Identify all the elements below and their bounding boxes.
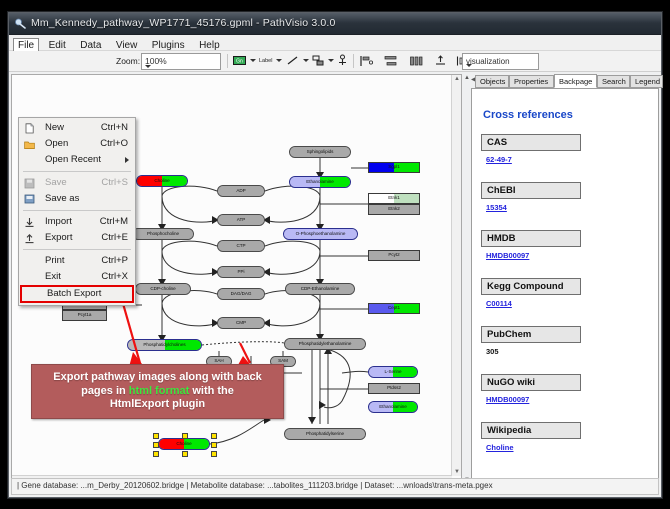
visualization-combobox[interactable]: visualization	[462, 53, 539, 70]
xref-group: WikipediaCholine	[481, 422, 581, 452]
toolbar: Zoom: 100% Gn Label	[9, 51, 661, 72]
label-button-text: Label	[259, 58, 272, 64]
file-menu-item-new[interactable]: New Ctrl+N	[19, 120, 135, 136]
tab-legend[interactable]: Legend	[630, 75, 663, 88]
file-menu-shortcut: Ctrl+N	[101, 120, 128, 136]
pathway-metabolite-o-phosphoethanolamine[interactable]: O-Phosphoethanolamine	[283, 228, 358, 240]
xref-group: NuGO wikiHMDB00097	[481, 374, 581, 404]
pathway-gene-sgpl1[interactable]: Sgpl1	[368, 162, 420, 173]
export-icon	[24, 233, 35, 244]
distribute-vertical-icon[interactable]	[384, 53, 398, 68]
window-title: Mm_Kennedy_pathway_WP1771_45176.gpml - P…	[31, 17, 335, 29]
node-label: CDP-Ethanolamine	[301, 287, 340, 292]
file-menu-label: Exit	[45, 271, 61, 282]
file-menu-item-import[interactable]: Import Ctrl+M	[19, 214, 135, 230]
callout-line3: HtmlExport plugin	[110, 398, 205, 410]
node-label: CTP	[236, 244, 245, 249]
file-menu-shortcut: Ctrl+O	[100, 136, 128, 152]
node-label: L-Serine	[385, 370, 402, 375]
pathway-metabolite-l-serine[interactable]: L-Serine	[368, 366, 418, 378]
node-label: ATP	[237, 218, 245, 223]
node-label: Choline	[154, 179, 169, 184]
node-label: Pcyt1a	[78, 313, 92, 318]
pathway-metabolite-choline-selected[interactable]: Choline	[158, 438, 210, 450]
xref-group: ChEBI15354	[481, 182, 581, 212]
callout-line2-post: with the	[189, 385, 234, 397]
file-menu-label: New	[45, 122, 64, 133]
side-panel-scrollbar[interactable]: ▲ ▼	[463, 74, 470, 484]
toolbar-separator	[227, 54, 228, 68]
tab-objects[interactable]: Objects	[475, 75, 509, 88]
zoom-label: Zoom:	[116, 56, 140, 66]
node-label: DAG/DAG	[231, 292, 252, 297]
node-label: O-Phosphoethanolamine	[296, 232, 346, 237]
pathway-metabolite-ctp[interactable]: CTP	[217, 240, 265, 252]
chevron-down-icon	[276, 59, 282, 62]
annotation-callout: Export pathway images along with back pa…	[31, 364, 284, 419]
main-area: CholineSphingolipidsEthanolamineADPATPPh…	[9, 72, 661, 495]
callout-line2-pre: pages in	[81, 385, 129, 397]
chevron-down-icon	[328, 59, 334, 62]
stack-icon[interactable]	[409, 53, 423, 68]
pathway-gene-etnk2[interactable]: Etnk2	[368, 204, 420, 215]
side-panel-tabs: ◀ Objects Properties Backpage Search Leg…	[471, 74, 659, 88]
file-menu-label: Export	[45, 232, 72, 243]
node-label: Ethanolamine	[306, 180, 334, 185]
pathway-metabolite-dag[interactable]: DAG/DAG	[217, 288, 265, 300]
pathway-metabolite-cmp[interactable]: CMP	[217, 317, 265, 329]
chevron-down-icon	[466, 60, 535, 69]
pathvisio-window: Mm_Kennedy_pathway_WP1771_45176.gpml - P…	[8, 12, 662, 498]
node-label: ADP	[236, 189, 245, 194]
zoom-combobox[interactable]: 100%	[141, 53, 221, 70]
pathway-metabolite-phosphatidylcholines[interactable]: Phosphatidylcholines	[127, 339, 202, 351]
pathway-metabolite-sphingolipids[interactable]: Sphingolipids	[289, 146, 351, 158]
save-disk-icon	[24, 178, 35, 189]
file-menu-item-save: Save Ctrl+S	[19, 175, 135, 191]
xref-link[interactable]: 62-49-7	[481, 155, 581, 164]
pathway-metabolite-ethanolamine-top[interactable]: Ethanolamine	[289, 176, 351, 188]
pathway-gene-cept1[interactable]: Cept1	[368, 303, 420, 314]
new-document-icon	[24, 123, 35, 134]
import-icon	[24, 217, 35, 228]
scroll-up-icon[interactable]: ▲	[464, 75, 470, 81]
menu-separator	[23, 249, 131, 250]
xref-link[interactable]: C00114	[481, 299, 581, 308]
node-label: Phosphatidylethanolamine	[299, 342, 352, 347]
pathway-metabolite-phosphatidylserine[interactable]: Phosphatidylserine	[284, 428, 366, 440]
tab-backpage[interactable]: Backpage	[554, 74, 597, 88]
scroll-down-icon[interactable]: ▼	[454, 469, 460, 475]
xref-link[interactable]: Choline	[481, 443, 581, 452]
file-menu-label: Save	[45, 177, 67, 188]
callout-line1: Export pathway images along with back	[53, 371, 261, 383]
node-label: Choline	[176, 442, 191, 447]
xref-group: CAS62-49-7	[481, 134, 581, 164]
file-menu-item-open[interactable]: Open Ctrl+O	[19, 136, 135, 152]
chevron-down-icon	[303, 59, 309, 62]
xref-group: PubChem305	[481, 326, 581, 356]
pathway-metabolite-ppi[interactable]: PPi	[217, 266, 265, 278]
file-menu-item-export[interactable]: Export Ctrl+E	[19, 230, 135, 246]
xref-group-name: Wikipedia	[481, 422, 581, 439]
status-bar: | Gene database: ...m_Derby_20120602.bri…	[11, 478, 659, 495]
scroll-up-icon[interactable]: ▲	[454, 76, 460, 82]
file-menu-shortcut: Ctrl+M	[100, 214, 128, 230]
open-folder-icon	[24, 139, 35, 150]
xref-value: 305	[481, 347, 581, 356]
pathway-metabolite-phosphatidylethanolamine[interactable]: Phosphatidylethanolamine	[284, 338, 366, 350]
node-label: CDP-choline	[150, 287, 175, 292]
datanode-button[interactable]: Gn	[233, 53, 256, 68]
status-bar-text: | Gene database: ...m_Derby_20120602.bri…	[17, 481, 493, 490]
file-menu-label: Import	[45, 216, 72, 227]
submenu-arrow-icon	[125, 157, 129, 163]
chevron-down-icon	[145, 60, 217, 70]
title-bar: Mm_Kennedy_pathway_WP1771_45176.gpml - P…	[9, 13, 661, 35]
pathway-gene-ptdss2[interactable]: Ptdss2	[368, 383, 420, 394]
xref-group: HMDBHMDB00097	[481, 230, 581, 260]
node-label: PPi	[238, 270, 245, 275]
canvas-vertical-scrollbar[interactable]: ▲ ▼	[451, 75, 461, 476]
toolbar-separator	[353, 54, 354, 68]
file-menu-shortcut: Ctrl+X	[101, 269, 128, 285]
pathway-metabolite-atp[interactable]: ATP	[217, 214, 265, 226]
backpage-content: Cross references CAS62-49-7ChEBI15354HMD…	[471, 88, 659, 484]
file-menu-shortcut: Ctrl+S	[101, 175, 128, 191]
node-label: Ethanolamine	[379, 405, 407, 410]
pathway-metabolite-cdp-ethanolamine[interactable]: CDP-Ethanolamine	[285, 283, 355, 295]
node-label: CMP	[236, 321, 246, 326]
pathway-metabolite-ethanolamine-bottom[interactable]: Ethanolamine	[368, 401, 418, 413]
node-label: Sphingolipids	[307, 150, 334, 155]
node-label: Sgpl1	[388, 165, 400, 170]
file-menu-item-batch-export[interactable]: Batch Export	[21, 286, 133, 302]
xref-group-name: PubChem	[481, 326, 581, 343]
file-menu-dropdown[interactable]: New Ctrl+N Open Ctrl+O Open Recent Save	[18, 117, 136, 306]
xref-link[interactable]: HMDB00097	[481, 251, 581, 260]
menu-separator	[23, 171, 131, 172]
xref-group-name: ChEBI	[481, 182, 581, 199]
anchor-button[interactable]	[336, 53, 349, 68]
cross-references-heading: Cross references	[483, 109, 573, 121]
file-menu-shortcut: Ctrl+E	[101, 230, 128, 246]
file-menu-label: Open Recent	[45, 154, 101, 165]
file-menu-label: Print	[45, 255, 65, 266]
pathway-gene-pcyt2[interactable]: Pcyt2	[368, 250, 420, 261]
pathvisio-app-icon	[14, 17, 27, 30]
node-label: Etnk2	[388, 207, 400, 212]
common-width-icon[interactable]	[434, 53, 447, 68]
pathway-metabolite-cdp-choline[interactable]: CDP-choline	[135, 283, 191, 295]
node-label: Ptdss2	[387, 386, 401, 391]
menu-bar: File Edit Data View Plugins Help	[9, 35, 661, 51]
pathway-metabolite-adp[interactable]: ADP	[217, 185, 265, 197]
node-label: Phosphatidylserine	[306, 432, 344, 437]
file-menu-item-print[interactable]: Print Ctrl+P	[19, 253, 135, 269]
chevron-down-icon	[250, 59, 256, 62]
node-label: Phosphatidylcholines	[143, 343, 185, 348]
xref-link[interactable]: 15354	[481, 203, 581, 212]
file-menu-shortcut: Ctrl+P	[101, 253, 128, 269]
file-menu-item-save-as[interactable]: Save as	[19, 191, 135, 207]
file-menu-item-exit[interactable]: Exit Ctrl+X	[19, 269, 135, 285]
file-menu-label: Open	[45, 138, 68, 149]
node-label: Cept1	[388, 306, 400, 311]
label-button[interactable]: Label	[259, 53, 282, 68]
node-label: Phosphocholine	[147, 232, 179, 237]
file-menu-label: Save as	[45, 193, 79, 204]
tab-properties[interactable]: Properties	[509, 75, 554, 88]
node-label: Etnk1	[388, 196, 400, 201]
save-as-icon	[24, 194, 35, 205]
callout-line2-highlight: html format	[129, 385, 190, 397]
xref-group-name: HMDB	[481, 230, 581, 247]
side-panel: ▲ ▼ ◀ Objects Properties Backpage Search…	[463, 74, 659, 484]
shape-button[interactable]	[312, 53, 334, 68]
xref-group-name: Kegg Compound	[481, 278, 581, 295]
svg-text:Gn: Gn	[236, 59, 243, 65]
menu-separator	[23, 210, 131, 211]
xref-group-name: CAS	[481, 134, 581, 151]
xref-group-name: NuGO wiki	[481, 374, 581, 391]
tab-search[interactable]: Search	[597, 75, 630, 88]
pathway-metabolite-phosphocholine[interactable]: Phosphocholine	[132, 228, 194, 240]
screenshot-root: Mm_Kennedy_pathway_WP1771_45176.gpml - P…	[0, 0, 670, 509]
file-menu-label: Batch Export	[47, 288, 101, 299]
xref-group: Kegg CompoundC00114	[481, 278, 581, 308]
node-label: Pcyt2	[388, 253, 399, 258]
xref-link[interactable]: HMDB00097	[481, 395, 581, 404]
pathway-gene-etnk1[interactable]: Etnk1	[368, 193, 420, 204]
line-button[interactable]	[287, 53, 309, 68]
align-left-icon[interactable]	[359, 53, 373, 68]
file-menu-item-open-recent[interactable]: Open Recent	[19, 152, 135, 168]
pathway-gene-pcyt1a[interactable]: Pcyt1a	[62, 310, 107, 321]
pathway-metabolite-choline-top[interactable]: Choline	[136, 175, 188, 187]
